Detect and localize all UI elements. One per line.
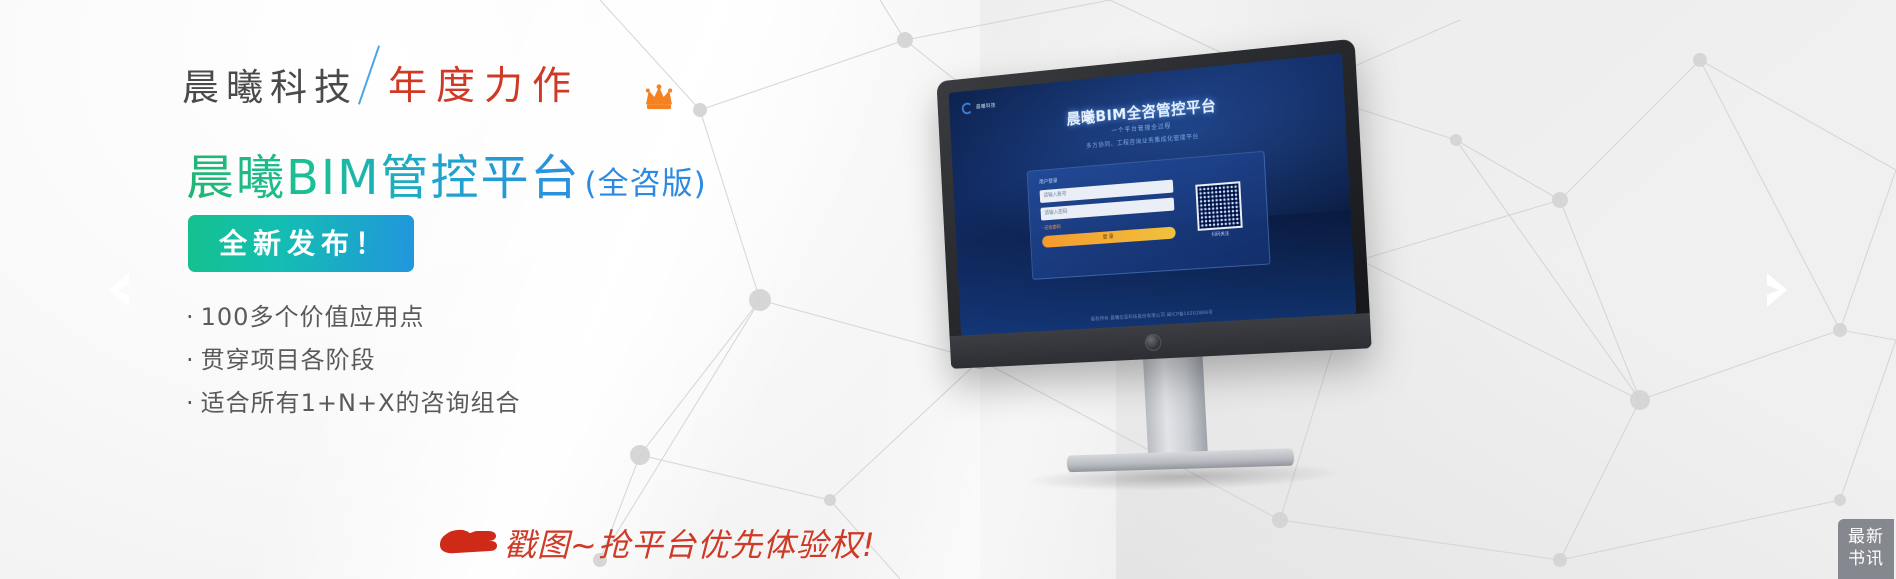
badge-line-2: 书讯 bbox=[1838, 548, 1894, 570]
pointing-hand-icon bbox=[436, 523, 498, 563]
qr-caption: 扫码关注 bbox=[1212, 232, 1230, 240]
tagline-text: 戳图~抢平台优先体验权! bbox=[504, 520, 876, 566]
carousel-next-button[interactable] bbox=[1754, 268, 1798, 312]
chevron-right-icon bbox=[1761, 270, 1791, 310]
banner-copy: 晨曦科技 年度力作 晨曦BIM管控平台 (全咨版) 全新发布！ 100多个价值应… bbox=[182, 0, 982, 579]
feature-list: 100多个价值应用点 贯穿项目各阶段 适合所有1+N+X的咨询组合 bbox=[186, 296, 521, 425]
list-item: 100多个价值应用点 bbox=[186, 296, 521, 339]
chevron-left-icon bbox=[105, 270, 135, 310]
kicker-line: 晨曦科技 年度力作 bbox=[182, 52, 580, 106]
qr-panel: 扫码关注 bbox=[1182, 161, 1257, 261]
carousel-prev-button[interactable] bbox=[98, 268, 142, 312]
list-item: 适合所有1+N+X的咨询组合 bbox=[186, 382, 521, 425]
device-stand-neck bbox=[1143, 356, 1208, 454]
logo-text: 晨曦科技 bbox=[976, 102, 996, 110]
screen-login-card: 用户登录 请输入账号 请输入密码 · 记住密码 登 录 扫码关注 bbox=[1027, 151, 1271, 280]
kicker-highlight: 年度力作 bbox=[388, 67, 580, 106]
title-sub: (全咨版) bbox=[585, 158, 707, 203]
new-release-button[interactable]: 全新发布！ bbox=[188, 215, 414, 272]
badge-line-1: 最新 bbox=[1838, 526, 1894, 548]
list-item: 贯穿项目各阶段 bbox=[186, 339, 521, 382]
title-main: 晨曦BIM管控平台 bbox=[186, 138, 581, 208]
device-monitor: 晨曦科技 晨曦BIM全咨管控平台 一个平台管理全过程 多方协同、工程咨询业务集成… bbox=[936, 39, 1371, 369]
page-title: 晨曦BIM管控平台 (全咨版) bbox=[186, 138, 707, 208]
promo-banner: 晨曦科技 年度力作 晨曦BIM管控平台 (全咨版) 全新发布！ 100多个价值应… bbox=[0, 0, 1896, 579]
kicker-brand: 晨曦科技 bbox=[182, 69, 358, 106]
qr-code-image bbox=[1195, 182, 1242, 232]
logo-mark-icon bbox=[962, 102, 973, 115]
monitor-logo-dot bbox=[1144, 333, 1161, 351]
latest-news-badge[interactable]: 最新 书讯 bbox=[1838, 519, 1894, 579]
crown-icon bbox=[644, 84, 674, 110]
device-screen: 晨曦科技 晨曦BIM全咨管控平台 一个平台管理全过程 多方协同、工程咨询业务集成… bbox=[949, 53, 1357, 335]
slash-divider-icon bbox=[354, 48, 386, 106]
tagline[interactable]: 戳图~抢平台优先体验权! bbox=[436, 520, 876, 566]
imac-device-mockup: 晨曦科技 晨曦BIM全咨管控平台 一个平台管理全过程 多方协同、工程咨询业务集成… bbox=[936, 34, 1424, 561]
login-form: 用户登录 请输入账号 请输入密码 · 记住密码 登 录 bbox=[1039, 168, 1177, 271]
